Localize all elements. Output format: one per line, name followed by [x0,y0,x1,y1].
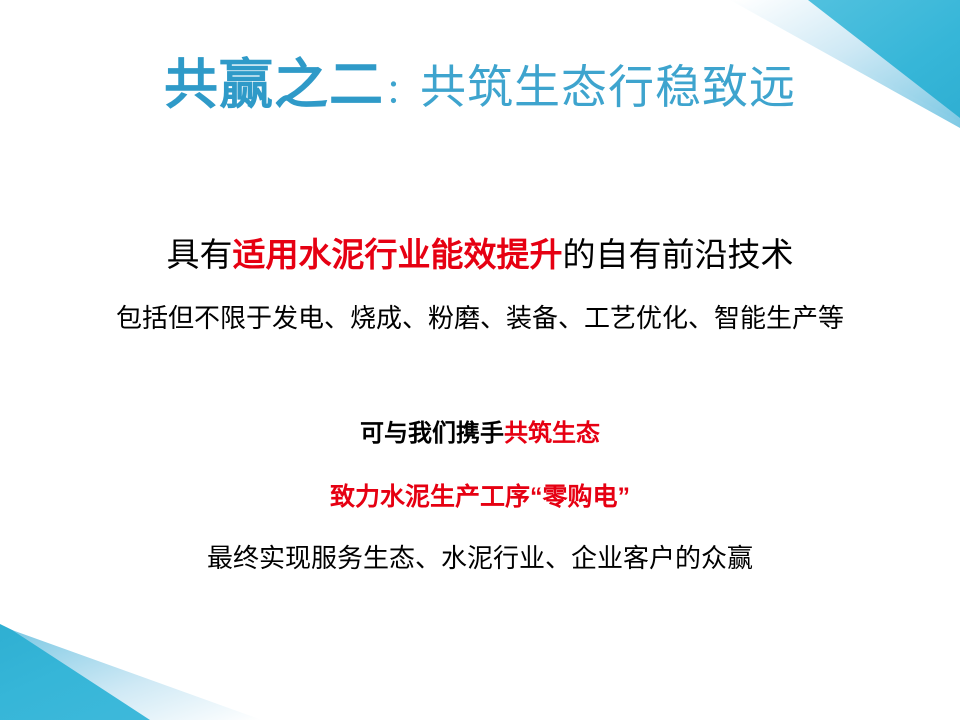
slide-title-sub: 共筑生态行稳致远 [420,62,796,113]
slide-title: 共赢之二：共筑生态行稳致远 [0,58,960,112]
content-line-5: 最终实现服务生态、水泥行业、企业客户的众赢 [0,541,960,575]
content-block-technology: 具有适用水泥行业能效提升的自有前沿技术 包括但不限于发电、烧成、粉磨、装备、工艺… [0,235,960,335]
content-line-2: 包括但不限于发电、烧成、粉磨、装备、工艺优化、智能生产等 [0,301,960,335]
content-line-3: 可与我们携手共筑生态 [0,418,960,450]
content-line-1-part1: 具有 [167,236,233,273]
content-line-1: 具有适用水泥行业能效提升的自有前沿技术 [0,235,960,275]
content-line-1-highlight: 适用水泥行业能效提升 [233,236,563,273]
content-line-3-part1: 可与我们携手 [360,420,504,447]
content-block-cooperation: 可与我们携手共筑生态 致力水泥生产工序“零购电” 最终实现服务生态、水泥行业、企… [0,418,960,575]
content-line-3-highlight: 共筑生态 [504,420,600,447]
content-line-4: 致力水泥生产工序“零购电” [0,481,960,513]
bottom-left-light-band-shape-2 [12,630,262,720]
bottom-left-teal-band-shape [0,624,196,720]
slide-title-main: 共赢之二 [164,55,384,115]
content-line-1-part3: 的自有前沿技术 [563,236,794,273]
slide-title-separator: ： [384,74,420,111]
slide-canvas: 共赢之二：共筑生态行稳致远 具有适用水泥行业能效提升的自有前沿技术 包括但不限于… [0,0,960,720]
